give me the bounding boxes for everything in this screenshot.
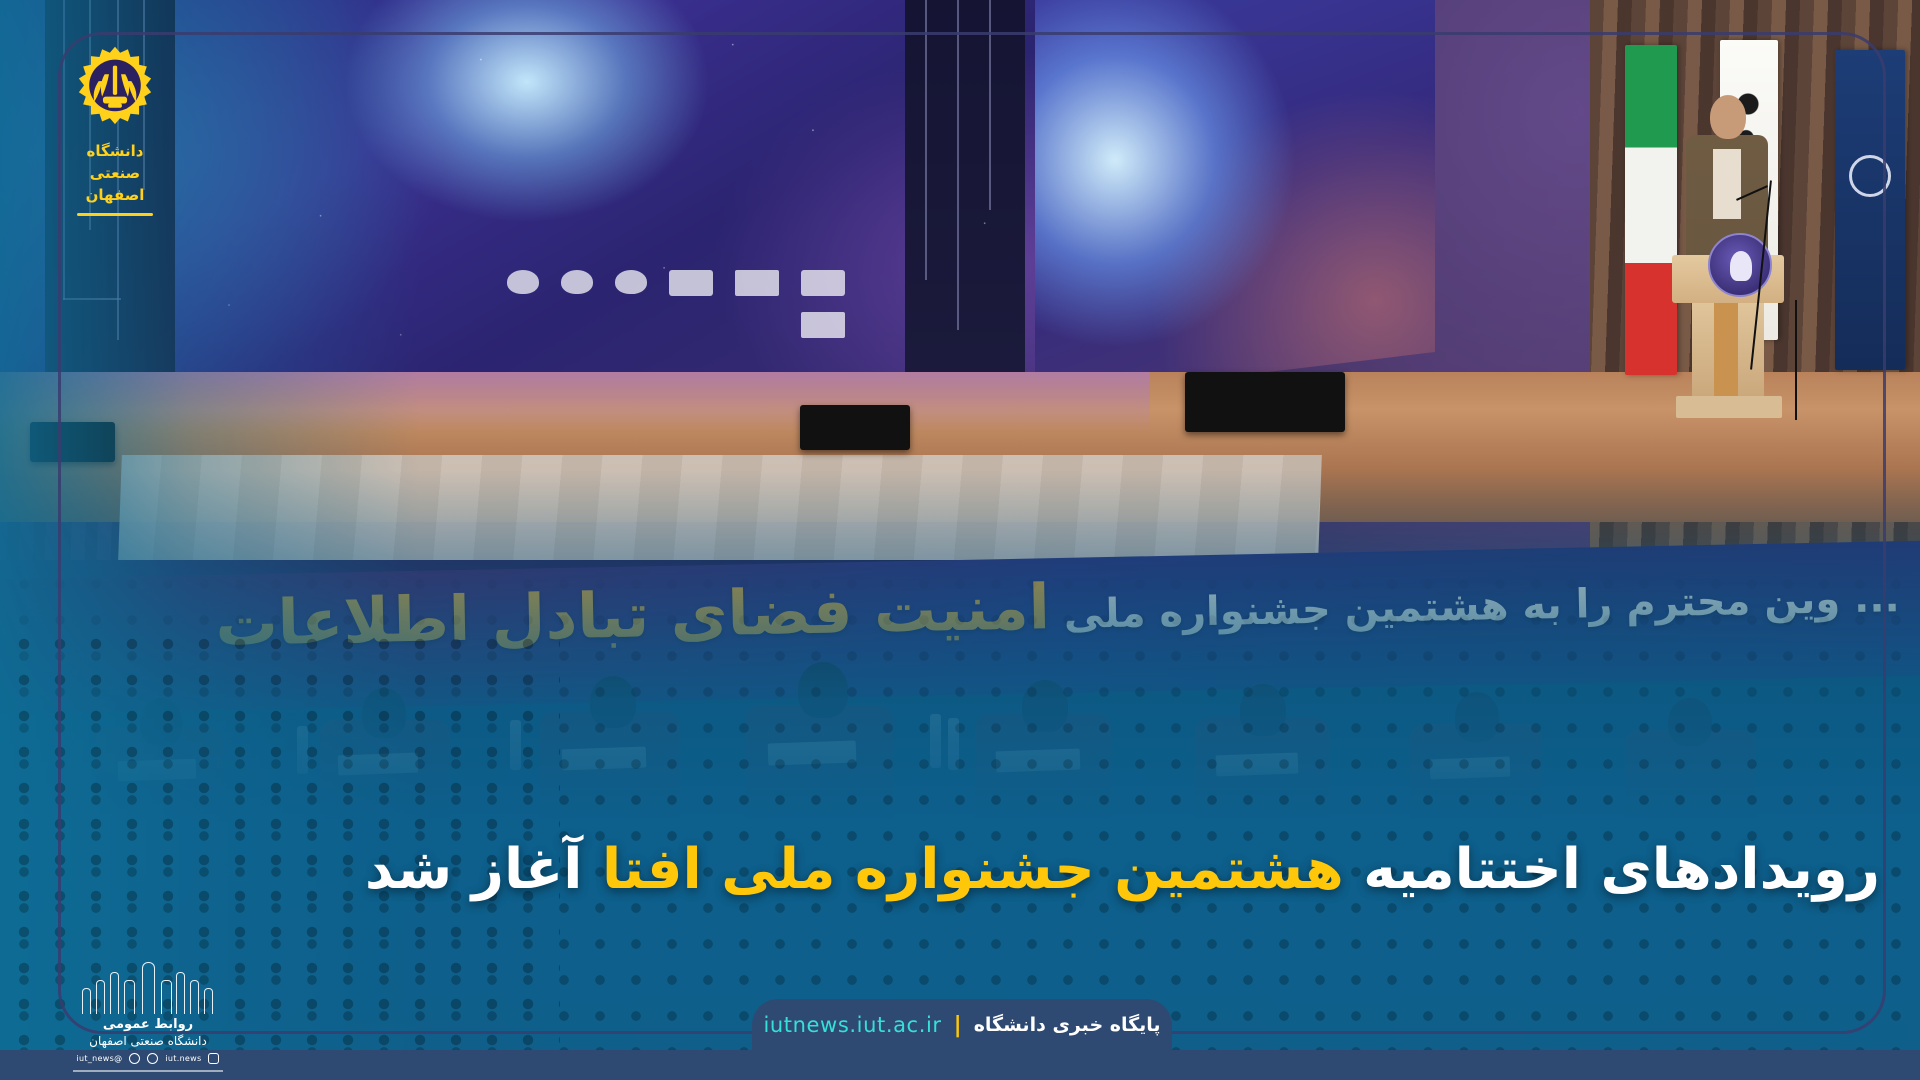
pr-instagram-handle: iut.news [165, 1054, 201, 1063]
instagram-icon[interactable] [208, 1053, 219, 1064]
stage-monitor-speaker [800, 405, 910, 450]
university-blue-flag [1835, 50, 1905, 370]
university-logo: دانشگاه صنعتی اصفهان [60, 45, 170, 216]
university-logo-underline [77, 213, 153, 216]
microphone-floor-stand [1795, 300, 1797, 420]
public-relations-logo: روابط عمومی دانشگاه صنعتی اصفهان iut.new… [58, 958, 238, 1072]
pr-underline [73, 1070, 223, 1072]
pr-telegram-handle: @iut_news [77, 1054, 123, 1063]
headline-part2: آغاز شد [365, 837, 583, 902]
stage-monitor-speaker [1185, 372, 1345, 432]
circuit-panel-right [905, 0, 1025, 372]
podium-top [1672, 255, 1784, 303]
university-logo-text: دانشگاه صنعتی اصفهان [60, 141, 170, 206]
pr-columns-icon [58, 958, 238, 1014]
telegram-icon[interactable] [147, 1053, 158, 1064]
footer-site-pill: پایگاه خبری دانشگاه | iutnews.iut.ac.ir [752, 999, 1172, 1051]
speaker-shirt [1713, 149, 1741, 219]
pr-social-handles: iut.news @iut_news [58, 1053, 238, 1064]
footer-url[interactable]: iutnews.iut.ac.ir [763, 1013, 941, 1037]
iut-seal-icon [72, 45, 158, 131]
pr-title: روابط عمومی [58, 1017, 238, 1032]
news-card: ... وین محترم را به هشتمین جشنواره ملی ا… [0, 0, 1920, 1080]
university-seal-icon [1849, 155, 1891, 197]
headline-part1: رویدادهای اختتامیه [1363, 837, 1880, 902]
headline: رویدادهای اختتامیه هشتمین جشنواره ملی اف… [300, 836, 1880, 903]
footer-site-label: پایگاه خبری دانشگاه [974, 1014, 1161, 1036]
university-logo-line2: صنعتی [60, 163, 170, 185]
whatsapp-icon[interactable] [129, 1053, 140, 1064]
pr-subtitle: دانشگاه صنعتی اصفهان [58, 1034, 238, 1048]
footer-separator: | [954, 1013, 962, 1038]
headline-highlight: هشتمین جشنواره ملی افتا [602, 837, 1344, 902]
speaker-head [1710, 95, 1746, 139]
university-logo-line1: دانشگاه [60, 141, 170, 163]
iran-flag [1625, 45, 1677, 375]
sponsor-logo-strip [455, 270, 845, 338]
podium-foot [1676, 396, 1782, 418]
led-screen-wing [1035, 0, 1435, 400]
footer-bar [0, 1050, 1920, 1080]
university-logo-line3: اصفهان [60, 185, 170, 207]
